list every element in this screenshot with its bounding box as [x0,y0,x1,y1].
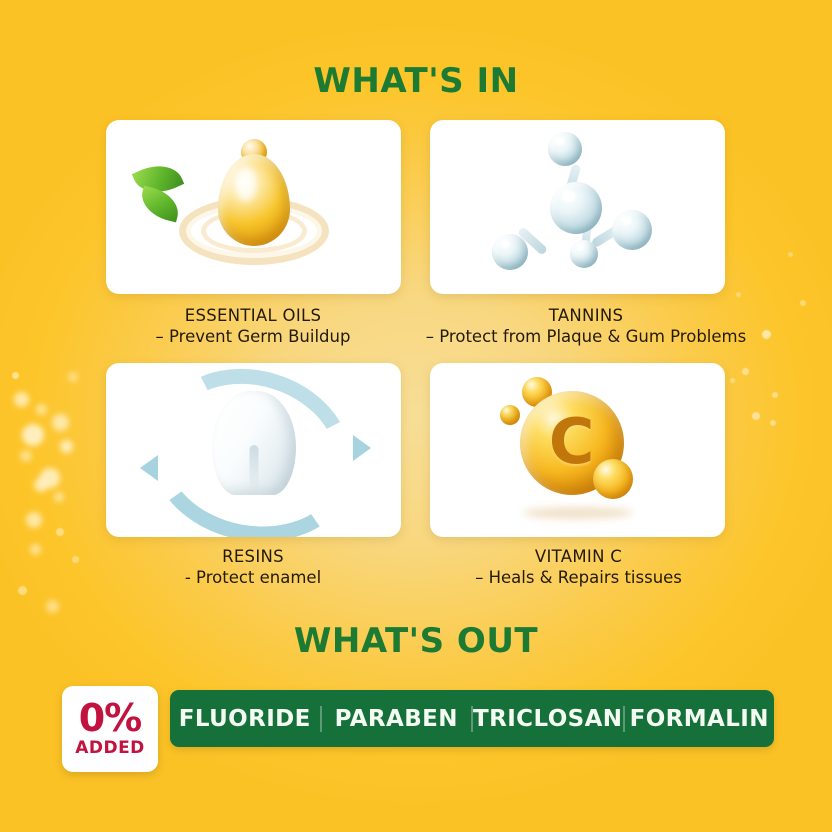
bokeh-dot [18,586,27,595]
bokeh-dot [46,600,59,613]
card-title: TANNINS [406,305,766,326]
card-title: RESINS [83,546,423,567]
bokeh-dot [40,468,60,488]
oil-drop-with-leaves-icon [106,120,401,294]
infographic-poster: WHAT'S IN ESSENTIAL OILS – Prevent Germ … [0,0,832,832]
caption-resins: RESINS - Protect enamel [83,546,423,588]
bubble-icon [593,459,633,499]
molecule-atom [570,240,598,268]
molecule-atom-center [550,182,602,234]
bubble-icon [500,405,520,425]
bokeh-dot [60,440,73,453]
card-title: VITAMIN C [406,546,751,567]
whats-out-heading: WHAT'S OUT [0,621,832,661]
bokeh-dot [34,478,48,492]
card-vitamin-c[interactable]: C [430,363,725,537]
zero-percent-added-badge: 0% ADDED [62,686,158,772]
leaf-icon [137,186,183,223]
banner-item-formalin[interactable]: FORMALIN [625,706,775,732]
bokeh-dot [742,368,749,375]
banner-item-fluoride[interactable]: FLUORIDE [170,706,322,732]
molecule-atom [548,132,582,166]
tooth-with-arrows-icon [106,363,401,537]
bokeh-dot [770,420,776,426]
bokeh-dot [20,450,32,462]
badge-value: 0% [79,700,142,736]
badge-label: ADDED [75,738,145,758]
bokeh-dot [22,424,44,446]
whats-out-banner-group: FLUORIDE PARABEN TRICLOSAN FORMALIN 0% A… [62,686,774,752]
card-subtitle: – Protect from Plaque & Gum Problems [406,326,766,347]
bokeh-dot [12,372,19,379]
banner-item-paraben[interactable]: PARABEN [322,706,474,732]
bokeh-dot [736,292,741,297]
bokeh-dot [788,252,793,257]
bokeh-dot [72,556,79,563]
bokeh-dot [54,492,64,502]
tooth-icon [212,391,296,495]
caption-vitamin-c: VITAMIN C – Heals & Repairs tissues [406,546,751,588]
banner-item-triclosan[interactable]: TRICLOSAN [473,706,625,732]
bokeh-dot [56,528,64,536]
card-tannins[interactable] [430,120,725,294]
vitamin-c-capsule-icon: C [430,363,725,537]
molecule-atom [492,234,528,270]
bokeh-dot [14,392,29,407]
card-resins[interactable] [106,363,401,537]
card-subtitle: - Protect enamel [83,567,423,588]
whats-in-heading: WHAT'S IN [0,61,832,101]
card-subtitle: – Prevent Germ Buildup [83,326,423,347]
bokeh-dot [800,300,806,306]
bokeh-dot [36,404,47,415]
caption-tannins: TANNINS – Protect from Plaque & Gum Prob… [406,305,766,347]
bokeh-dot [772,392,778,398]
droplet-icon [218,154,290,246]
bokeh-dot [52,414,69,431]
drop-shadow [523,507,633,519]
card-title: ESSENTIAL OILS [83,305,423,326]
bokeh-dot [30,544,41,555]
card-essential-oils[interactable] [106,120,401,294]
bokeh-dot [752,412,760,420]
excluded-ingredients-banner: FLUORIDE PARABEN TRICLOSAN FORMALIN [170,690,774,747]
bokeh-dot [730,378,735,383]
molecule-atom [612,210,652,250]
arrow-head-left [140,455,158,481]
bokeh-dot [26,512,42,528]
caption-essential-oils: ESSENTIAL OILS – Prevent Germ Buildup [83,305,423,347]
bokeh-dot [68,372,78,382]
molecule-icon [430,120,725,294]
vitamin-c-letter: C [549,411,595,473]
arrow-head-right [353,435,371,461]
card-subtitle: – Heals & Repairs tissues [406,567,751,588]
